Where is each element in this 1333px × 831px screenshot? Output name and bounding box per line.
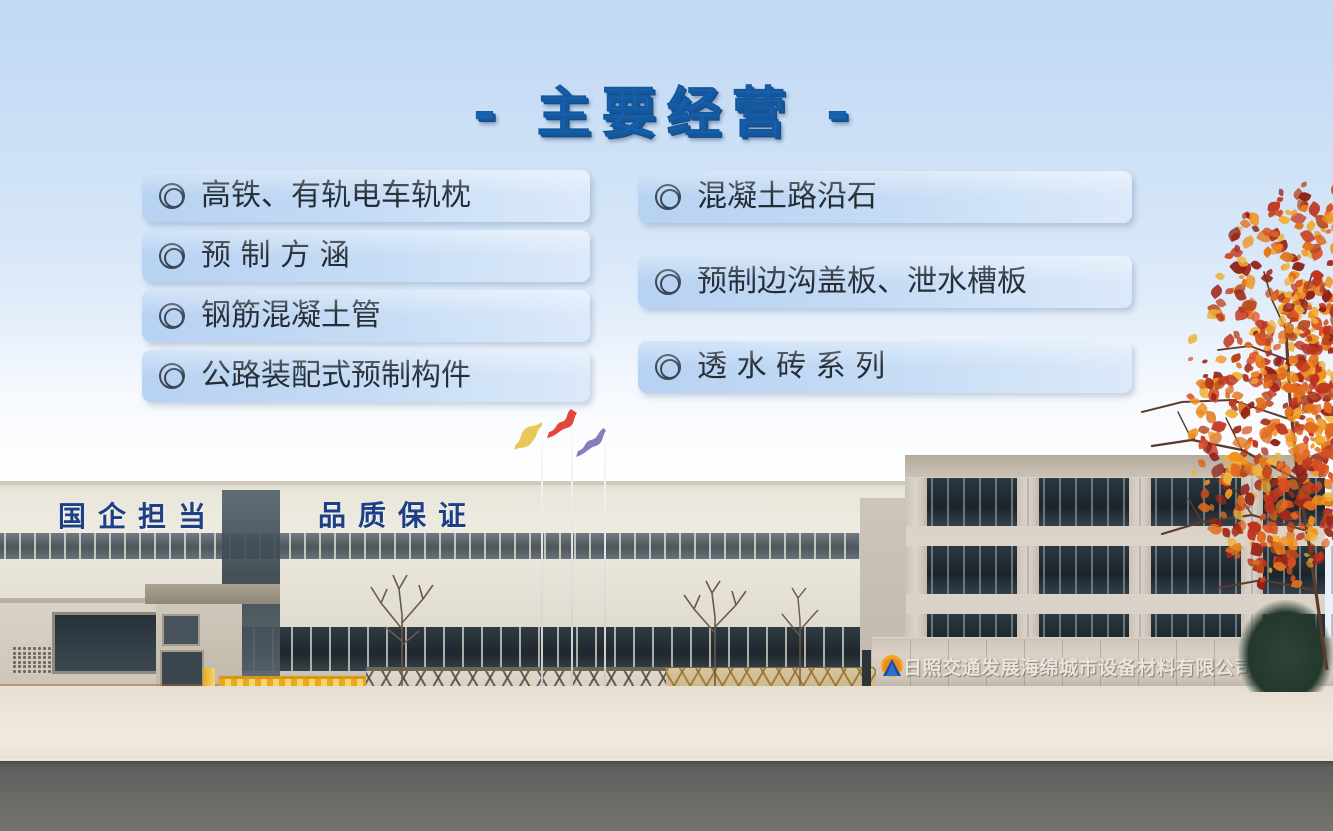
poster-canvas: 国企担当 品质保证 日照交通发展海绵城市设备材料有限公司 xyxy=(0,0,1333,831)
tree-leaf xyxy=(1309,327,1315,332)
tree-leaf xyxy=(1313,410,1318,416)
vent-hole xyxy=(28,665,31,668)
tree-leaf xyxy=(1264,344,1273,352)
flag-purple xyxy=(573,426,607,462)
tree-leaf xyxy=(1270,244,1282,255)
window-mullion xyxy=(349,533,351,559)
tree-leaf xyxy=(1296,373,1304,383)
tree-leaf xyxy=(1311,316,1323,330)
tree-leaf xyxy=(1212,371,1224,384)
tree-leaf xyxy=(1292,384,1308,399)
window-mullion xyxy=(1299,546,1301,594)
tree-leaf xyxy=(1268,421,1284,437)
tree-leaf xyxy=(1207,302,1223,319)
tree-leaf xyxy=(1218,376,1229,385)
office-floor-windows-1 xyxy=(905,478,1325,526)
tree-leaf xyxy=(1228,399,1235,406)
tree-leaf xyxy=(1290,317,1297,323)
tree-leaf xyxy=(1266,419,1279,430)
tree-leaf xyxy=(1322,394,1332,403)
tree-leaf xyxy=(1250,258,1263,271)
tree-leaf xyxy=(1261,320,1271,331)
window-mullion xyxy=(1011,478,1013,526)
tree-leaf xyxy=(1209,377,1223,389)
tree-leaf xyxy=(1324,323,1333,336)
window-mullion xyxy=(1219,546,1221,594)
tree-leaf xyxy=(1304,385,1312,393)
tree-leaf xyxy=(1236,255,1248,268)
tree-leaf xyxy=(1219,315,1226,321)
tree-leaf xyxy=(1298,414,1306,421)
tree-leaf xyxy=(1292,188,1305,201)
tree-leaf xyxy=(1305,332,1320,346)
service-item-left-2[interactable]: 预 制 方 涵 xyxy=(142,230,590,282)
tree-leaf xyxy=(1291,295,1299,301)
tree-leaf xyxy=(1260,390,1272,403)
window-mullion xyxy=(1171,546,1173,594)
tree-leaf xyxy=(1207,386,1222,402)
tree-leaf xyxy=(1310,278,1318,285)
window-mullion xyxy=(1187,478,1189,526)
tree-leaf xyxy=(1272,356,1284,367)
tree-leaf xyxy=(1197,439,1209,449)
tree-leaf xyxy=(1242,362,1253,373)
vent-hole xyxy=(13,670,16,673)
window-mullion xyxy=(1059,478,1061,526)
window-mullion xyxy=(184,533,186,559)
tree-leaf xyxy=(1285,327,1295,338)
tree-leaf xyxy=(1230,353,1242,363)
window-mullion xyxy=(769,533,771,559)
tree-leaf xyxy=(1280,296,1291,305)
tree-leaf xyxy=(1297,358,1309,373)
tree-leaf xyxy=(1323,209,1331,217)
tree-leaf xyxy=(1328,436,1333,446)
tree-leaf xyxy=(1224,406,1238,420)
tree-leaf xyxy=(1322,329,1331,337)
window-mullion xyxy=(500,627,502,671)
tree-leaf xyxy=(1321,226,1327,233)
tree-leaf xyxy=(1255,354,1261,361)
tree-leaf xyxy=(1292,407,1302,416)
vent-hole xyxy=(23,665,26,668)
tree-leaf xyxy=(1270,438,1281,449)
tree-leaf xyxy=(1310,316,1319,325)
tree-leaf xyxy=(1224,252,1233,260)
window-mullion xyxy=(1011,546,1013,594)
bare-tree-center xyxy=(670,555,760,690)
tree-leaf xyxy=(1325,368,1332,376)
tree-leaf xyxy=(1283,406,1295,418)
window-mullion xyxy=(1299,478,1301,526)
tree-leaf xyxy=(1200,436,1206,443)
tree-leaf xyxy=(1262,374,1272,383)
tree-leaf xyxy=(1285,310,1294,320)
tree-leaf xyxy=(1242,426,1252,434)
vent-hole xyxy=(33,665,36,668)
window-mullion xyxy=(199,533,201,559)
bare-tree-left xyxy=(355,545,450,690)
window-mullion xyxy=(1075,478,1077,526)
window-mullion xyxy=(1203,478,1205,526)
vent-hole xyxy=(28,652,31,655)
vent-hole xyxy=(28,670,31,673)
tree-leaf xyxy=(1319,407,1329,417)
tree-leaf xyxy=(1307,303,1312,309)
vent-hole xyxy=(43,652,46,655)
tree-leaf xyxy=(1195,377,1209,391)
tree-leaf xyxy=(1277,364,1289,374)
vent-hole xyxy=(33,652,36,655)
tree-leaf xyxy=(1307,248,1316,259)
window-mullion xyxy=(963,546,965,594)
tree-leaf xyxy=(1187,333,1199,344)
tree-leaf xyxy=(1314,233,1327,247)
tree-leaf xyxy=(1210,419,1226,434)
window-mullion xyxy=(595,627,597,671)
tree-leaf xyxy=(1290,443,1300,454)
tree-leaf xyxy=(1290,209,1299,217)
tree-leaf xyxy=(1309,435,1315,442)
tree-leaf xyxy=(1321,334,1333,347)
service-item-right-2[interactable]: 预制边沟盖板、泄水槽板 xyxy=(638,256,1132,308)
window-mullion xyxy=(1235,546,1237,594)
tree-leaf xyxy=(1307,201,1323,218)
tree-leaf xyxy=(1281,402,1289,409)
window-mullion xyxy=(4,533,6,559)
window-mullion xyxy=(1235,478,1237,526)
tree-leaf xyxy=(1278,337,1286,345)
tree-leaf xyxy=(1277,329,1289,339)
service-item-right-3[interactable]: 透 水 砖 系 列 xyxy=(638,341,1132,393)
window-mullion xyxy=(664,533,666,559)
window-mullion xyxy=(1027,478,1029,526)
tree-leaf xyxy=(1295,300,1301,307)
tree-leaf xyxy=(1314,368,1329,382)
tree-leaf xyxy=(1274,239,1290,254)
tree-leaf xyxy=(1241,440,1252,451)
tree-leaf xyxy=(1314,277,1325,288)
tree-leaf xyxy=(1284,428,1295,441)
tree-leaf xyxy=(1264,287,1275,298)
tree-leaf xyxy=(1292,290,1301,298)
window-mullion xyxy=(1139,478,1141,526)
window-mullion xyxy=(519,627,521,671)
window-mullion xyxy=(1123,546,1125,594)
building-slogan-left: 国企担当 xyxy=(58,495,218,535)
tree-leaf xyxy=(1215,297,1226,309)
window-mullion xyxy=(499,533,501,559)
tree-leaf xyxy=(1278,189,1284,196)
window-mullion xyxy=(348,627,350,671)
service-item-left-3[interactable]: 钢筋混凝土管 xyxy=(142,290,590,342)
tree-leaf xyxy=(1268,423,1278,433)
tree-leaf xyxy=(1240,279,1249,288)
tree-leaf xyxy=(1282,380,1298,395)
tree-leaf xyxy=(1240,217,1252,229)
tree-leaf xyxy=(1322,402,1333,415)
tree-leaf xyxy=(1228,399,1236,406)
vent-hole xyxy=(18,647,21,650)
window-mullion xyxy=(931,546,933,594)
tree-leaf xyxy=(1305,303,1313,311)
tree-leaf xyxy=(1266,383,1272,389)
tree-leaf xyxy=(1301,326,1307,333)
tree-leaf xyxy=(1236,225,1244,232)
tree-leaf xyxy=(1311,274,1326,288)
vent-hole xyxy=(18,670,21,673)
window-mullion xyxy=(574,533,576,559)
vent-hole xyxy=(48,656,51,659)
tree-leaf xyxy=(1289,372,1301,383)
tree-leaf xyxy=(1246,355,1256,364)
tree-leaf xyxy=(1301,249,1308,257)
tree-leaf xyxy=(1322,423,1333,439)
vent-hole xyxy=(38,665,41,668)
tree-leaf xyxy=(1290,211,1306,227)
vent-hole xyxy=(43,665,46,668)
tree-leaf xyxy=(1300,228,1316,245)
tree-leaf xyxy=(1263,337,1271,346)
tree-leaf xyxy=(1284,362,1291,369)
window-mullion xyxy=(334,533,336,559)
tree-leaf xyxy=(1239,404,1251,418)
tree-leaf xyxy=(1262,379,1273,389)
tree-leaf xyxy=(1295,331,1301,337)
vent-hole xyxy=(13,661,16,664)
tree-leaf xyxy=(1269,383,1280,394)
tree-leaf xyxy=(1321,327,1329,336)
tree-leaf xyxy=(1246,310,1254,319)
tree-leaf xyxy=(1327,302,1333,318)
tree-leaf xyxy=(1288,269,1300,280)
window-mullion xyxy=(1027,546,1029,594)
window-mullion xyxy=(947,478,949,526)
window-mullion xyxy=(538,627,540,671)
tree-leaf xyxy=(1271,377,1283,391)
vent-hole xyxy=(23,661,26,664)
tree-leaf xyxy=(1326,228,1333,234)
service-item-right-1[interactable]: 混凝土路沿石 xyxy=(638,171,1132,223)
tree-leaf xyxy=(1292,405,1298,411)
tree-leaf xyxy=(1302,327,1311,337)
tree-leaf xyxy=(1291,282,1299,291)
tree-leaf xyxy=(1325,203,1333,213)
window-mullion xyxy=(1315,478,1317,526)
tree-leaf xyxy=(1254,401,1268,413)
tree-leaf xyxy=(1303,328,1312,337)
tree-leaf xyxy=(1298,355,1306,364)
tree-leaf xyxy=(1223,372,1239,388)
tree-leaf xyxy=(1327,421,1333,432)
tree-leaf xyxy=(1260,327,1265,333)
vent-hole xyxy=(38,670,41,673)
tree-leaf xyxy=(1291,398,1302,410)
tree-leaf xyxy=(1241,211,1250,219)
window-mullion xyxy=(514,533,516,559)
tree-leaf xyxy=(1251,377,1259,384)
tree-leaf xyxy=(1244,340,1253,349)
tree-leaf xyxy=(1233,287,1247,302)
tree-leaf xyxy=(1324,288,1328,293)
tree-leaf xyxy=(1319,303,1328,313)
wall-vent-grille xyxy=(10,644,52,674)
tree-leaf xyxy=(1253,349,1259,356)
window-mullion xyxy=(589,533,591,559)
tree-leaf xyxy=(1264,349,1273,357)
tree-leaf xyxy=(1309,341,1319,352)
vent-hole xyxy=(38,656,41,659)
tree-leaf xyxy=(1305,343,1319,356)
service-item-left-1[interactable]: 高铁、有轨电车轨枕 xyxy=(142,170,590,222)
vent-hole xyxy=(23,652,26,655)
tree-leaf xyxy=(1299,332,1307,340)
tree-leaf xyxy=(1309,403,1318,411)
tree-leaf xyxy=(1280,264,1287,271)
vent-hole xyxy=(43,656,46,659)
tree-leaf xyxy=(1310,247,1325,261)
tree-leaf xyxy=(1225,386,1235,394)
window-mullion xyxy=(1203,546,1205,594)
tree-leaf xyxy=(1239,261,1254,276)
tree-leaf xyxy=(1289,298,1302,311)
tree-leaf xyxy=(1293,302,1306,315)
tree-leaf xyxy=(1329,327,1333,341)
tree-leaf xyxy=(1325,435,1331,442)
tree-leaf xyxy=(1243,274,1257,289)
flag-gold xyxy=(512,420,544,456)
tree-leaf xyxy=(1207,431,1223,446)
tree-leaf xyxy=(1300,204,1309,212)
tree-leaf xyxy=(1256,396,1268,409)
tree-leaf xyxy=(1279,249,1295,264)
tree-leaf xyxy=(1319,325,1332,335)
vent-hole xyxy=(13,656,16,659)
window-mullion xyxy=(1283,546,1285,594)
tree-leaf xyxy=(1287,252,1298,264)
tree-leaf xyxy=(1298,381,1309,392)
double-circle-icon xyxy=(655,354,681,380)
tree-leaf xyxy=(1320,440,1332,450)
tree-leaf xyxy=(1274,356,1287,369)
tree-leaf xyxy=(1306,353,1320,368)
company-name-sign: 日照交通发展海绵城市设备材料有限公司 xyxy=(903,653,1254,680)
window-mullion xyxy=(1283,478,1285,526)
tree-leaf xyxy=(1251,372,1263,386)
tree-leaf xyxy=(1233,245,1241,253)
tree-leaf xyxy=(1296,430,1302,435)
tree-leaf xyxy=(1233,426,1243,435)
tree-leaf xyxy=(1298,319,1311,330)
tree-leaf xyxy=(1300,341,1315,357)
building-slogan-right: 品质保证 xyxy=(318,494,478,534)
tree-leaf xyxy=(1296,391,1304,398)
vent-hole xyxy=(18,665,21,668)
tree-leaf xyxy=(1272,366,1289,383)
tree-leaf xyxy=(1206,410,1217,423)
tree-leaf xyxy=(1305,219,1318,232)
window-mullion xyxy=(34,533,36,559)
tree-leaf xyxy=(1319,281,1327,289)
facade-pilaster xyxy=(905,546,927,594)
tree-leaf xyxy=(1329,241,1333,255)
tree-leaf xyxy=(1315,366,1322,372)
window-mullion xyxy=(1075,546,1077,594)
tree-leaf xyxy=(1314,446,1321,453)
tree-leaf xyxy=(1304,290,1316,301)
tree-leaf xyxy=(1251,440,1258,448)
window-mullion xyxy=(1107,478,1109,526)
tree-leaf xyxy=(1255,332,1267,346)
tree-leaf xyxy=(1316,377,1330,391)
tree-leaf xyxy=(1310,363,1323,374)
tree-leaf xyxy=(1255,317,1269,331)
tree-leaf xyxy=(1300,288,1309,298)
tree-leaf xyxy=(1304,281,1314,289)
tree-leaf xyxy=(1225,392,1231,399)
vent-hole xyxy=(48,665,51,668)
tree-leaf xyxy=(1319,285,1327,294)
tree-leaf xyxy=(1290,382,1300,393)
tree-leaf xyxy=(1276,243,1283,249)
tree-leaf xyxy=(1305,362,1312,368)
tree-leaf xyxy=(1324,403,1330,408)
tree-leaf xyxy=(1294,222,1304,232)
tree-leaf xyxy=(1274,422,1283,431)
flagpole-1 xyxy=(541,418,543,686)
vent-hole xyxy=(43,647,46,650)
window-mullion xyxy=(557,627,559,671)
tree-leaf xyxy=(1267,367,1277,377)
tree-leaf xyxy=(1259,428,1274,444)
tree-leaf xyxy=(1229,286,1238,294)
window-mullion xyxy=(963,478,965,526)
tree-leaf xyxy=(1277,302,1289,313)
tree-leaf xyxy=(1261,403,1268,409)
tree-leaf xyxy=(1267,228,1282,242)
entry-window xyxy=(162,614,200,646)
concrete-plaza xyxy=(0,686,1333,764)
tree-leaf xyxy=(1298,200,1310,213)
tree-leaf xyxy=(1291,293,1297,298)
tree-leaf xyxy=(1322,318,1330,326)
tree-leaf xyxy=(1264,331,1275,342)
tree-leaf xyxy=(1314,230,1321,239)
tree-leaf xyxy=(1307,429,1313,436)
window-mullion xyxy=(1123,478,1125,526)
tree-leaf xyxy=(1276,197,1282,203)
vent-hole xyxy=(13,665,16,668)
tree-leaf xyxy=(1310,244,1322,254)
tree-leaf xyxy=(1270,293,1278,300)
tree-leaf xyxy=(1306,409,1312,414)
window-mullion xyxy=(64,533,66,559)
window-mullion xyxy=(649,533,651,559)
sun-mountain-logo xyxy=(877,651,907,681)
vent-hole xyxy=(43,661,46,664)
tree-leaf xyxy=(1291,285,1307,302)
tree-leaf xyxy=(1248,213,1259,226)
tree-leaf xyxy=(1261,365,1275,381)
tree-leaf xyxy=(1312,355,1320,363)
tree-leaf xyxy=(1297,401,1303,407)
tree-leaf xyxy=(1260,356,1271,366)
window-mullion xyxy=(1187,546,1189,594)
tree-leaf xyxy=(1240,299,1256,313)
window-mullion xyxy=(481,627,483,671)
service-item-left-4[interactable]: 公路装配式预制构件 xyxy=(142,350,590,402)
tree-leaf xyxy=(1241,235,1256,249)
